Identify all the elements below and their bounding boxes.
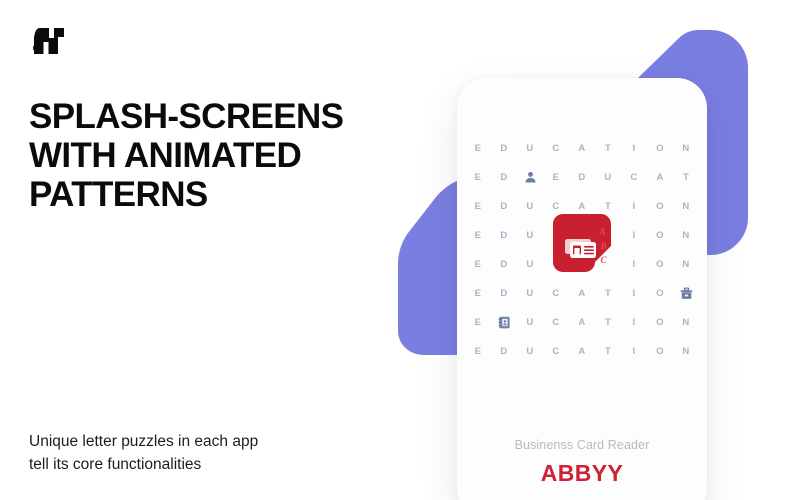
grid-letter-cell: N xyxy=(682,260,689,270)
grid-letter-cell: O xyxy=(656,347,664,357)
grid-letter-cell: I xyxy=(633,318,636,328)
grid-letter-cell: O xyxy=(656,318,664,328)
caption-line-2: tell its core functionalities xyxy=(29,453,359,476)
abbyy-wordmark: ABBYY xyxy=(457,460,707,487)
grid-letter-cell: E xyxy=(475,144,482,154)
grid-letter-cell: U xyxy=(526,347,533,357)
app-icon-tab-c: C xyxy=(601,255,608,265)
grid-letter-cell: I xyxy=(633,144,636,154)
grid-letter-cell: U xyxy=(526,202,533,212)
app-name-label: Businenss Card Reader xyxy=(457,438,707,452)
grid-letter-cell: E xyxy=(475,202,482,212)
grid-letter-cell: C xyxy=(630,173,637,183)
grid-letter-cell: N xyxy=(682,144,689,154)
grid-letter-cell: C xyxy=(552,347,559,357)
grid-letter-cell: U xyxy=(604,173,611,183)
grid-letter-cell: D xyxy=(500,260,507,270)
grid-letter-cell: C xyxy=(552,202,559,212)
grid-letter-cell: D xyxy=(578,173,585,183)
grid-letter-cell: I xyxy=(633,260,636,270)
grid-letter-cell: A xyxy=(578,289,585,299)
grid-letter-cell: E xyxy=(475,173,482,183)
grid-letter-cell: C xyxy=(552,289,559,299)
grid-letter-cell: I xyxy=(633,347,636,357)
headline-line-3: PATTERNS xyxy=(29,175,208,214)
grid-letter-cell: A xyxy=(578,347,585,357)
grid-letter-cell: U xyxy=(526,318,533,328)
grid-letter-cell: T xyxy=(683,173,689,183)
grid-letter-cell: U xyxy=(526,231,533,241)
grid-letter-cell: O xyxy=(656,231,664,241)
grid-letter-cell: A xyxy=(578,202,585,212)
grid-letter-cell: D xyxy=(500,289,507,299)
contact-card-icon xyxy=(498,316,511,329)
grid-letter-cell: N xyxy=(682,231,689,241)
grid-letter-cell: E xyxy=(475,347,482,357)
grid-letter-cell: D xyxy=(500,144,507,154)
grid-letter-cell: I xyxy=(633,289,636,299)
grid-letter-cell: T xyxy=(605,202,611,212)
app-icon-tab-a: A xyxy=(599,227,606,237)
netguru-logo-icon xyxy=(28,28,74,54)
phone-splash-screen-card: EDUCATIONEDEDUCATEDUCATIONEDUCATIONEDUCA… xyxy=(457,78,707,500)
grid-letter-cell: T xyxy=(605,347,611,357)
app-icon-tab-b: B xyxy=(600,241,607,251)
grid-letter-cell: D xyxy=(500,173,507,183)
grid-letter-cell: O xyxy=(656,144,664,154)
grid-letter-cell: N xyxy=(682,318,689,328)
grid-letter-cell: E xyxy=(475,318,482,328)
grid-letter-cell: T xyxy=(605,289,611,299)
grid-letter-cell: C xyxy=(552,144,559,154)
grid-letter-cell: I xyxy=(633,231,636,241)
page-title: SPLASH-SCREENS WITH ANIMATED PATTERNS xyxy=(29,97,409,214)
app-branding: Businenss Card Reader ABBYY xyxy=(457,438,707,487)
grid-letter-cell: C xyxy=(552,318,559,328)
caption-text: Unique letter puzzles in each app tell i… xyxy=(29,430,359,476)
grid-letter-cell: D xyxy=(500,347,507,357)
caption-line-1: Unique letter puzzles in each app xyxy=(29,430,359,453)
grid-letter-cell: E xyxy=(475,260,482,270)
person-icon xyxy=(524,171,537,184)
slide-canvas: SPLASH-SCREENS WITH ANIMATED PATTERNS Un… xyxy=(0,0,786,500)
grid-letter-cell: E xyxy=(475,231,482,241)
briefcase-icon xyxy=(680,287,693,300)
grid-letter-cell: U xyxy=(526,260,533,270)
grid-letter-cell: U xyxy=(526,289,533,299)
business-card-reader-app-icon[interactable]: A B C xyxy=(551,212,613,274)
grid-letter-cell: T xyxy=(605,318,611,328)
grid-letter-cell: N xyxy=(682,202,689,212)
grid-letter-cell: U xyxy=(526,144,533,154)
grid-letter-cell: N xyxy=(682,347,689,357)
grid-letter-cell: T xyxy=(605,144,611,154)
grid-letter-cell: A xyxy=(578,318,585,328)
grid-letter-cell: D xyxy=(500,231,507,241)
grid-letter-cell: O xyxy=(656,260,664,270)
grid-letter-cell: A xyxy=(656,173,663,183)
grid-letter-cell: D xyxy=(500,202,507,212)
grid-letter-cell: E xyxy=(475,289,482,299)
headline-line-2: WITH ANIMATED xyxy=(29,136,301,175)
grid-letter-cell: O xyxy=(656,289,664,299)
grid-letter-cell: E xyxy=(553,173,560,183)
grid-letter-cell: O xyxy=(656,202,664,212)
grid-letter-cell: A xyxy=(578,144,585,154)
grid-letter-cell: I xyxy=(633,202,636,212)
headline-line-1: SPLASH-SCREENS xyxy=(29,97,343,136)
